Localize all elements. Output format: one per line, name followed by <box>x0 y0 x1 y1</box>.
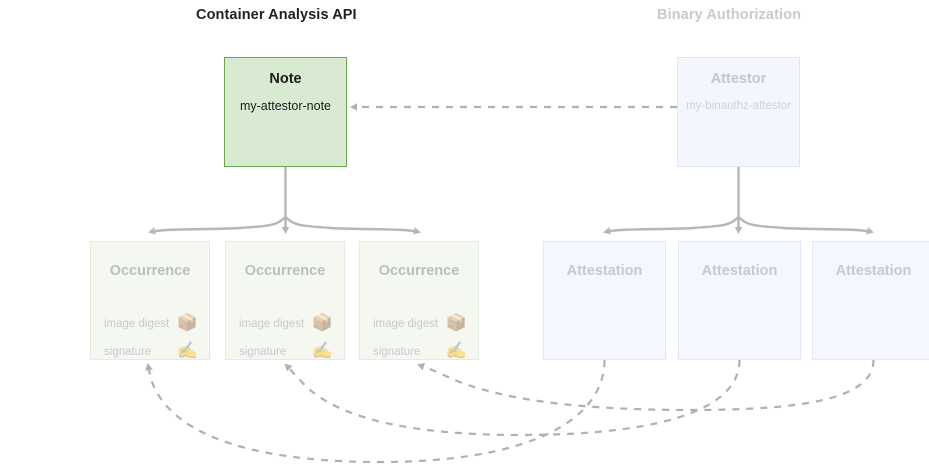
section-title-container-analysis: Container Analysis API <box>196 7 357 23</box>
node-attestor[interactable]: Attestor my-binauthz-attestor <box>677 57 800 167</box>
occurrence-field-image-digest: image digest 📦 <box>104 309 200 337</box>
occurrence-field-signature: signature ✍️ <box>104 337 200 365</box>
occurrence-field-label: image digest <box>373 318 438 330</box>
edge-note-to-occurrence-2 <box>286 217 420 232</box>
occurrence-field-signature: signature ✍️ <box>373 337 469 365</box>
occurrence-field-list: image digest 📦 signature ✍️ <box>373 309 469 365</box>
edge-attestor-to-attestation-2 <box>739 217 873 232</box>
node-occurrence[interactable]: Occurrence image digest 📦 signature ✍️ <box>225 241 345 360</box>
occurrence-field-signature: signature ✍️ <box>239 337 335 365</box>
package-icon: 📦 <box>177 309 198 337</box>
section-title-binary-authorization: Binary Authorization <box>657 7 801 23</box>
node-occurrence-title: Occurrence <box>91 263 209 279</box>
writing-hand-icon: ✍️ <box>446 337 467 365</box>
edge-attestation-0-to-occurrence-0 <box>148 360 605 462</box>
occurrence-field-list: image digest 📦 signature ✍️ <box>239 309 335 365</box>
node-note-subtitle: my-attestor-note <box>225 99 346 113</box>
edge-attestor-to-attestation-0 <box>605 217 739 232</box>
occurrence-field-label: signature <box>104 346 151 358</box>
node-note-title: Note <box>225 71 346 87</box>
occurrence-field-image-digest: image digest 📦 <box>373 309 469 337</box>
occurrence-field-label: signature <box>239 346 286 358</box>
node-attestation[interactable]: Attestation <box>543 241 666 360</box>
edge-note-to-occurrence-0 <box>150 217 286 232</box>
node-occurrence[interactable]: Occurrence image digest 📦 signature ✍️ <box>359 241 479 360</box>
node-occurrence[interactable]: Occurrence image digest 📦 signature ✍️ <box>90 241 210 360</box>
node-note[interactable]: Note my-attestor-note <box>224 57 347 167</box>
occurrence-field-label: image digest <box>239 318 304 330</box>
node-attestation-title: Attestation <box>679 263 800 279</box>
node-attestation[interactable]: Attestation <box>678 241 801 360</box>
occurrence-field-image-digest: image digest 📦 <box>239 309 335 337</box>
writing-hand-icon: ✍️ <box>177 337 198 365</box>
node-attestation[interactable]: Attestation <box>812 241 929 360</box>
node-attestor-subtitle: my-binauthz-attestor <box>678 100 799 112</box>
edge-attestation-2-to-occurrence-2 <box>419 360 874 410</box>
package-icon: 📦 <box>312 309 333 337</box>
occurrence-field-label: image digest <box>104 318 169 330</box>
edge-attestation-1-to-occurrence-1 <box>286 360 740 435</box>
node-attestor-title: Attestor <box>678 71 799 87</box>
occurrence-field-list: image digest 📦 signature ✍️ <box>104 309 200 365</box>
diagram-canvas: Container Analysis API Binary Authorizat… <box>0 0 929 468</box>
occurrence-field-label: signature <box>373 346 420 358</box>
package-icon: 📦 <box>446 309 467 337</box>
node-attestation-title: Attestation <box>544 263 665 279</box>
writing-hand-icon: ✍️ <box>312 337 333 365</box>
node-attestation-title: Attestation <box>813 263 929 279</box>
node-occurrence-title: Occurrence <box>226 263 344 279</box>
node-occurrence-title: Occurrence <box>360 263 478 279</box>
